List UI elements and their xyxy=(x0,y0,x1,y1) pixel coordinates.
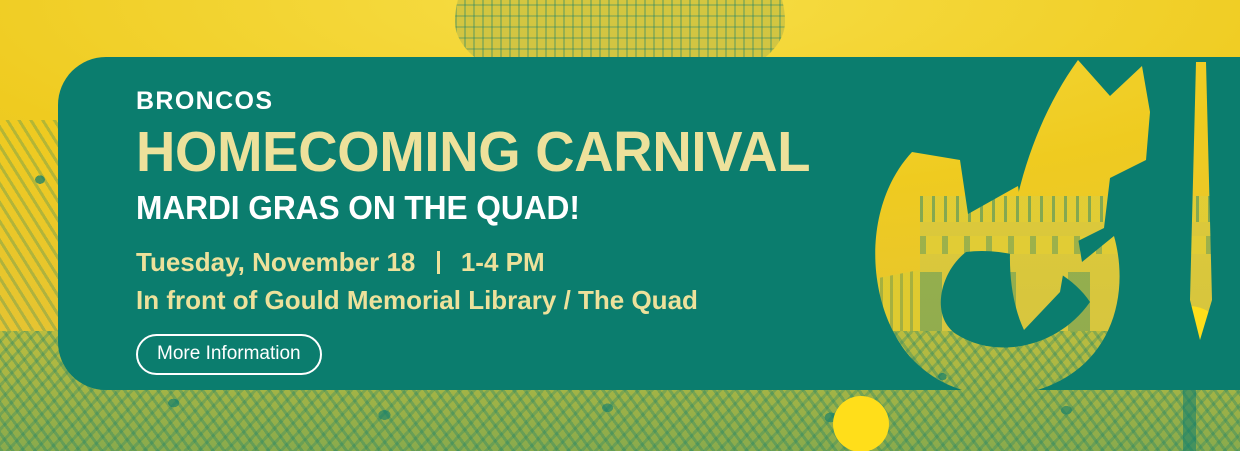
page-title: HOMECOMING CARNIVAL xyxy=(136,122,862,182)
event-date: Tuesday, November 18 xyxy=(136,247,415,277)
event-location: In front of Gould Memorial Library / The… xyxy=(136,283,896,319)
banner-content: BRONCOS HOMECOMING CARNIVAL MARDI GRAS O… xyxy=(136,88,896,375)
homecoming-carnival-banner: BRONCOS HOMECOMING CARNIVAL MARDI GRAS O… xyxy=(0,0,1240,451)
eyebrow-text: BRONCOS xyxy=(136,88,896,115)
event-datetime: Tuesday, November 18 1-4 PM xyxy=(136,245,896,281)
event-time: 1-4 PM xyxy=(461,247,545,277)
separator-bar xyxy=(437,251,440,274)
subtitle: MARDI GRAS ON THE QUAD! xyxy=(136,190,866,226)
more-information-button[interactable]: More Information xyxy=(136,334,322,375)
